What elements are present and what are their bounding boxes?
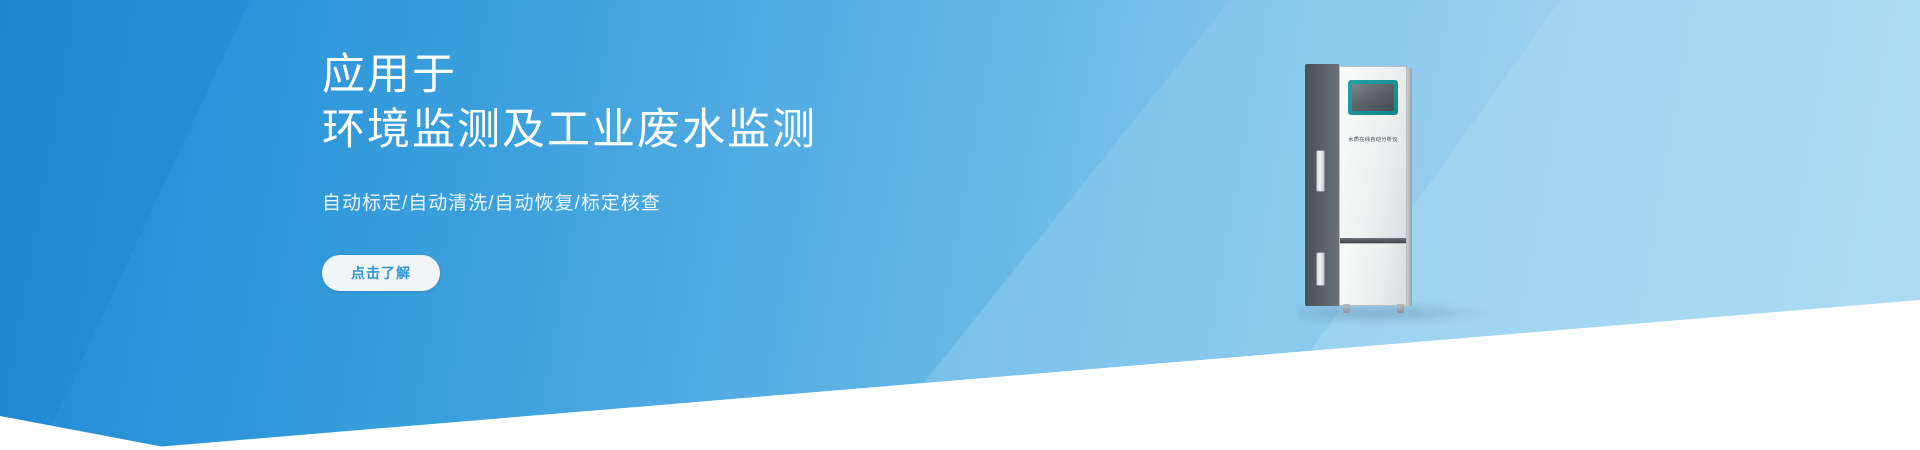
product-label-text: 水质在线自动分析仪 — [1339, 136, 1407, 143]
analyzer-display-screen — [1352, 84, 1394, 111]
cabinet-side-panel — [1305, 64, 1339, 306]
cabinet-foot-right — [1397, 304, 1404, 313]
analyzer-display-bezel — [1348, 80, 1398, 115]
cabinet-lower-handle-icon — [1316, 252, 1325, 286]
hero-subtitle: 自动标定/自动清洗/自动恢复/标定核查 — [322, 191, 1082, 217]
cabinet-foot-left — [1343, 304, 1350, 313]
headline-line-1: 应用于 — [322, 48, 1082, 103]
hero-text-block: 应用于 环境监测及工业废水监测 自动标定/自动清洗/自动恢复/标定核查 点击了解 — [322, 48, 1082, 291]
hero-banner: 应用于 环境监测及工业废水监测 自动标定/自动清洗/自动恢复/标定核查 点击了解… — [0, 0, 1920, 450]
cabinet-right-edge — [1407, 68, 1412, 306]
cabinet-upper-handle-icon — [1316, 150, 1325, 192]
headline-line-2: 环境监测及工业废水监测 — [322, 103, 1082, 158]
water-quality-analyzer-image: 水质在线自动分析仪 — [1305, 64, 1470, 314]
cabinet-lower-door — [1339, 243, 1407, 306]
learn-more-button[interactable]: 点击了解 — [322, 255, 440, 291]
